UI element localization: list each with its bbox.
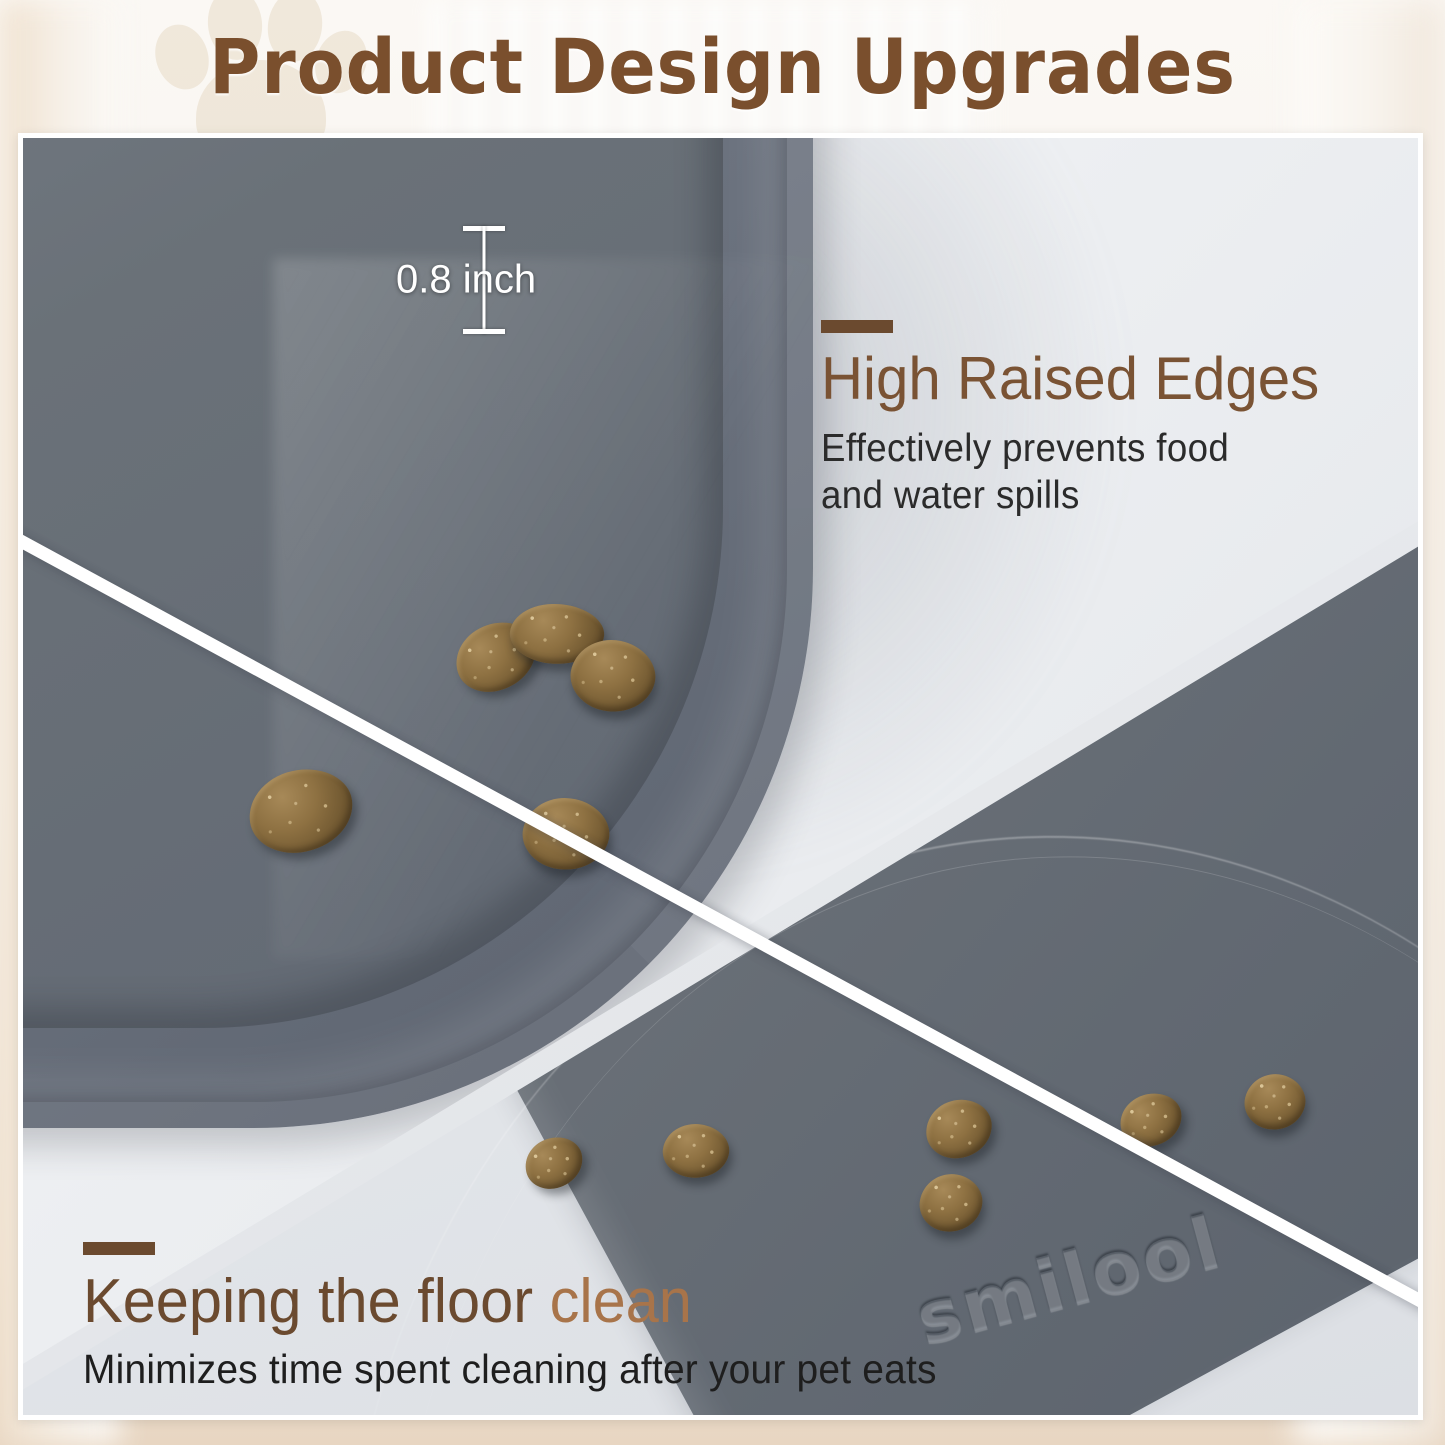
feature-heading: Keeping the floor clean	[83, 1269, 1235, 1334]
feature-body-line: and water spills	[821, 472, 1385, 520]
header: Product Design Upgrades	[0, 0, 1445, 133]
accent-bar	[821, 320, 893, 333]
product-photo: 0.8 inch smilool High Raised Edges Effec…	[23, 138, 1418, 1415]
feature-heading: High Raised Edges	[821, 347, 1403, 411]
dimension-callout: 0.8 inch	[482, 226, 485, 334]
feature-heading-primary: Keeping the floor	[83, 1267, 533, 1336]
feature-body-line: Effectively prevents food	[821, 425, 1385, 473]
product-photo-frame: 0.8 inch smilool High Raised Edges Effec…	[18, 133, 1423, 1420]
feature-block-floor-clean: Keeping the floor clean Minimizes time s…	[83, 1242, 1283, 1393]
dimension-label: 0.8 inch	[396, 258, 672, 303]
feature-heading-accent: clean	[550, 1267, 692, 1336]
dimension-cap-bottom	[463, 329, 505, 334]
feature-block-raised-edges: High Raised Edges Effectively prevents f…	[821, 320, 1418, 520]
feature-body: Effectively prevents food and water spil…	[821, 425, 1385, 520]
feature-body: Minimizes time spent cleaning after your…	[83, 1346, 1223, 1393]
page-title: Product Design Upgrades	[58, 0, 1387, 133]
accent-bar	[83, 1242, 155, 1255]
